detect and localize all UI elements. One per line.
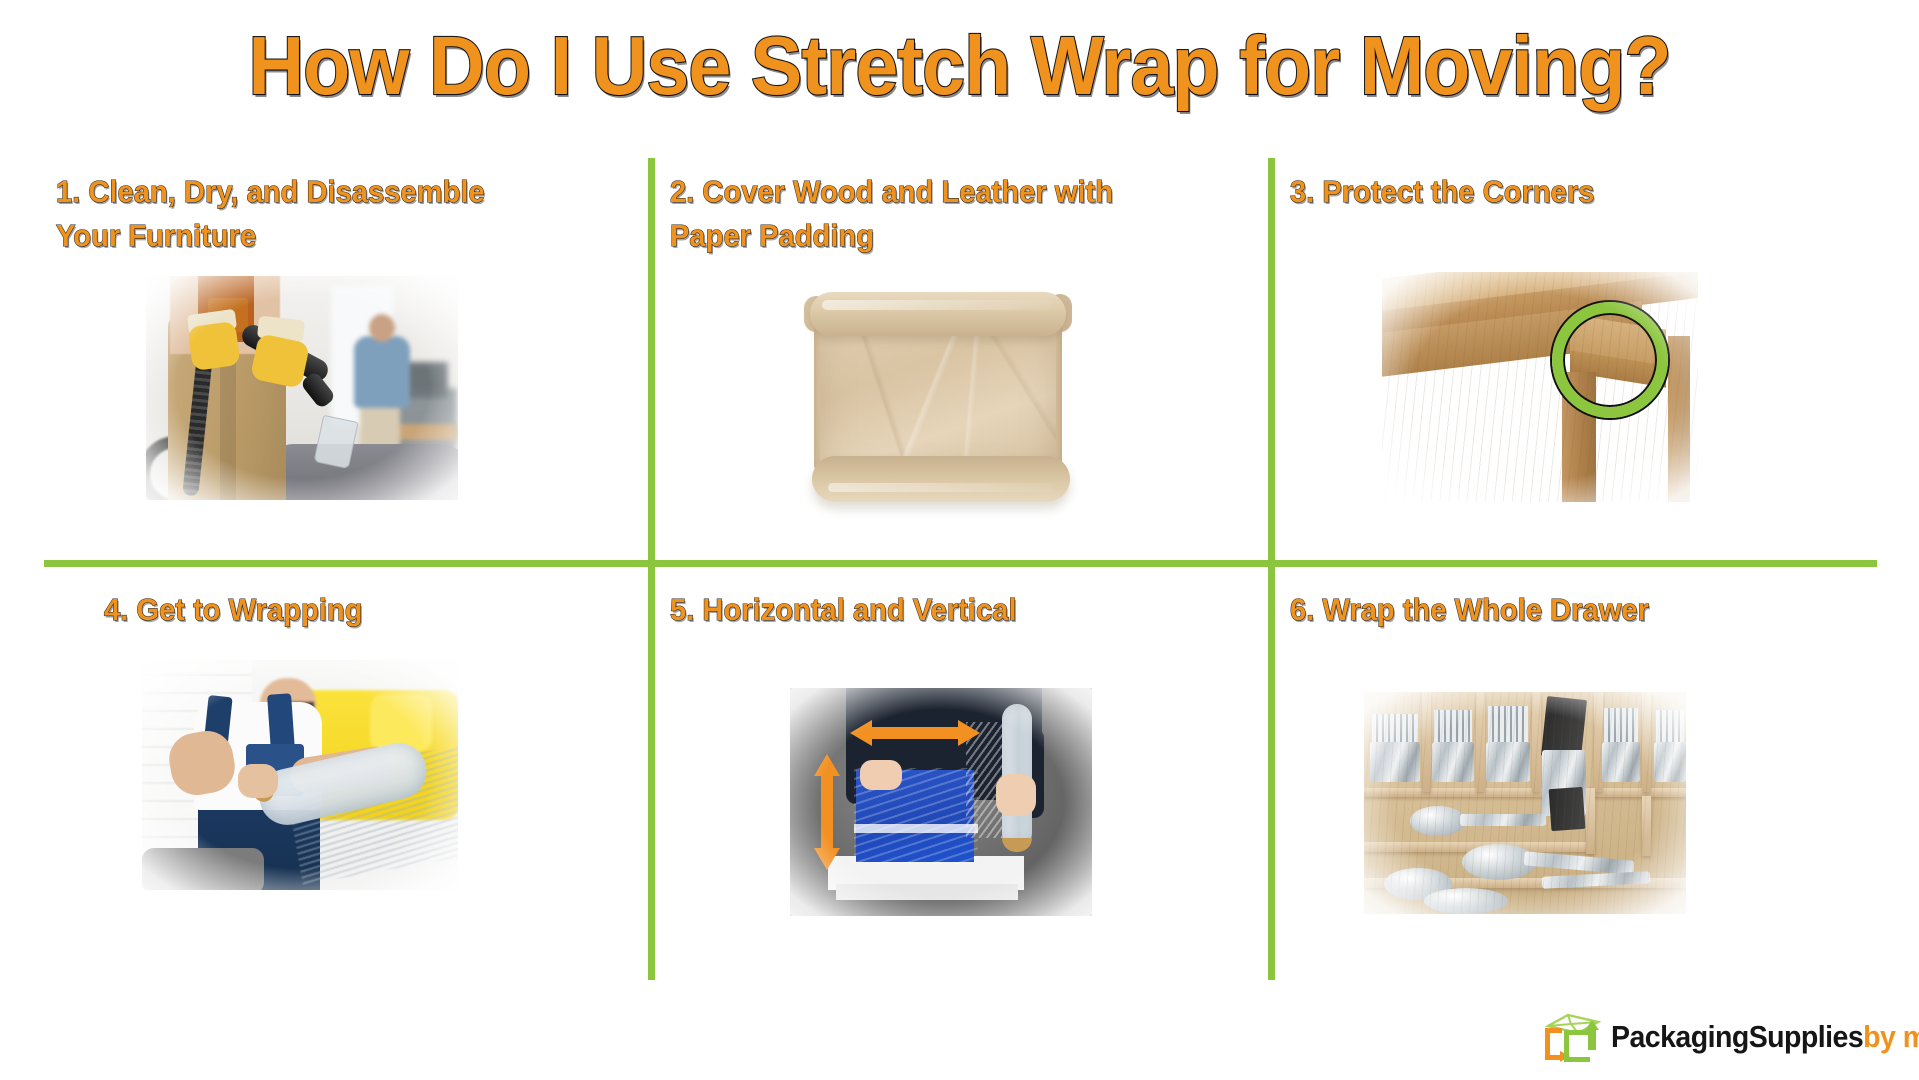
step-card-2: 2. Cover Wood and Leather with Paper Pad… bbox=[670, 170, 1240, 258]
step-5-heading-line1: 5. Horizontal and Vertical bbox=[670, 588, 1206, 632]
open-box-icon bbox=[1540, 1012, 1602, 1062]
step-card-1: 1. Clean, Dry, and Disassemble Your Furn… bbox=[56, 170, 626, 258]
infographic-canvas: How Do I Use Stretch Wrap for Moving? 1.… bbox=[0, 0, 1919, 1080]
step-card-6: 6. Wrap the Whole Drawer bbox=[1290, 588, 1860, 632]
step-2-heading-line2: Paper Padding bbox=[670, 214, 1206, 258]
brand-logo[interactable]: PackagingSuppliesby mail bbox=[1540, 1012, 1919, 1062]
step-4-image bbox=[142, 660, 458, 890]
step-2-image bbox=[790, 260, 1086, 530]
step-1-image bbox=[146, 276, 458, 500]
step-6-image bbox=[1364, 692, 1686, 914]
step-card-4: 4. Get to Wrapping bbox=[104, 588, 624, 632]
divider-vertical-right bbox=[1268, 158, 1275, 980]
divider-vertical-left bbox=[648, 158, 655, 980]
vertical-arrow-icon bbox=[812, 754, 842, 870]
step-1-heading-line1: 1. Clean, Dry, and Disassemble bbox=[56, 170, 592, 214]
step-3-image bbox=[1382, 272, 1698, 502]
horizontal-arrow-icon bbox=[850, 718, 980, 748]
corner-highlight-circle bbox=[1552, 302, 1668, 418]
step-card-5: 5. Horizontal and Vertical bbox=[670, 588, 1240, 632]
brand-logo-text: PackagingSuppliesby mail bbox=[1611, 1019, 1919, 1055]
page-title: How Do I Use Stretch Wrap for Moving? bbox=[67, 18, 1852, 114]
step-4-heading-line1: 4. Get to Wrapping bbox=[104, 588, 593, 632]
step-card-3: 3. Protect the Corners bbox=[1290, 170, 1860, 214]
step-5-image bbox=[790, 688, 1092, 916]
step-3-heading-line1: 3. Protect the Corners bbox=[1290, 170, 1826, 214]
step-6-heading-line1: 6. Wrap the Whole Drawer bbox=[1290, 588, 1826, 632]
brand-name-secondary: by mail bbox=[1863, 1019, 1919, 1054]
step-1-heading-line2: Your Furniture bbox=[56, 214, 592, 258]
step-2-heading-line1: 2. Cover Wood and Leather with bbox=[670, 170, 1206, 214]
brand-name-primary: PackagingSupplies bbox=[1611, 1019, 1863, 1054]
divider-horizontal bbox=[44, 560, 1877, 567]
